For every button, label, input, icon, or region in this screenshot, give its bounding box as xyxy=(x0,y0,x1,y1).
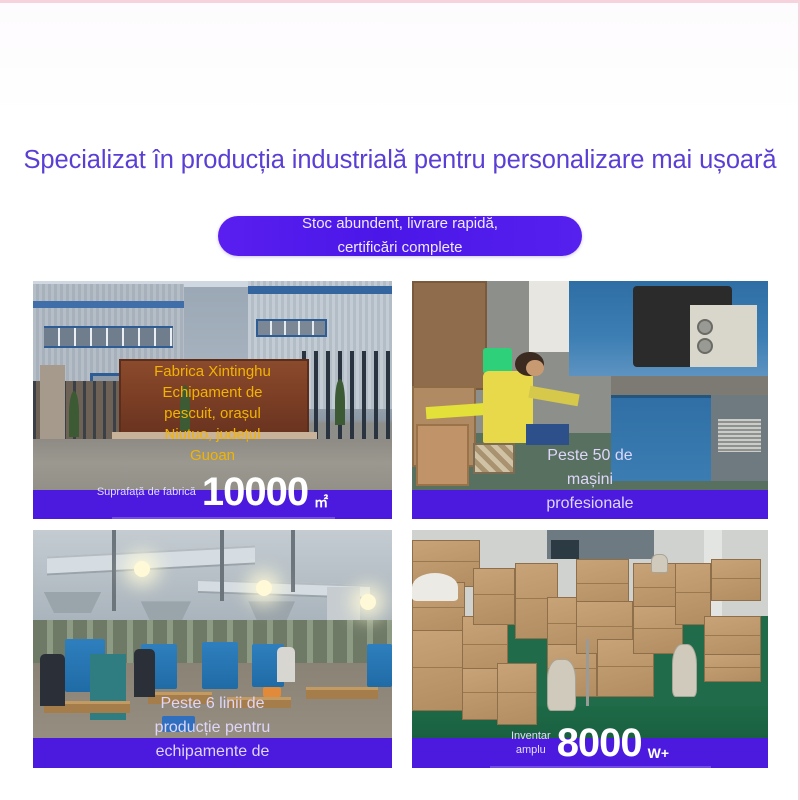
caption-machines: Peste 50 de mașini profesionale xyxy=(412,444,768,516)
stat-number: 8000 xyxy=(557,722,642,764)
highlight-badge-label: Stoc abundent, livrare rapidă, certifică… xyxy=(218,212,582,260)
caption-production-lines: Peste 6 linii de producție pentru echipa… xyxy=(33,692,392,768)
stat-inventory: Inventar amplu 8000 W+ xyxy=(412,722,768,764)
stat-unit: ㎡ xyxy=(314,491,328,513)
caption-bar-machines: Peste 50 de mașini profesionale xyxy=(412,490,768,519)
stat-label: Suprafață de fabrică xyxy=(97,485,196,499)
factory-name-overlay: Fabrica Xintinghu Echipament de pescuit,… xyxy=(33,361,392,466)
promo-page: Specializat în producția industrială pen… xyxy=(0,0,800,800)
card-machines[interactable]: Peste 50 de mașini profesionale xyxy=(412,281,768,519)
page-title: Specializat în producția industrială pen… xyxy=(0,143,800,177)
stat-label: Inventar amplu xyxy=(511,729,551,757)
stat-number: 10000 xyxy=(202,471,308,513)
caption-bar-inventory: Inventar amplu 8000 W+ xyxy=(412,738,768,768)
stat-factory-area: Suprafață de fabrică 10000 ㎡ xyxy=(33,471,392,513)
caption-bar-production-lines: Peste 6 linii de producție pentru echipa… xyxy=(33,738,392,768)
caption-bar-factory-area: Suprafață de fabrică 10000 ㎡ xyxy=(33,490,392,519)
card-inventory[interactable]: Inventar amplu 8000 W+ xyxy=(412,530,768,768)
card-production-lines[interactable]: Peste 6 linii de producție pentru echipa… xyxy=(33,530,392,768)
highlight-badge[interactable]: Stoc abundent, livrare rapidă, certifică… xyxy=(218,216,582,256)
stat-unit: W+ xyxy=(648,742,669,764)
